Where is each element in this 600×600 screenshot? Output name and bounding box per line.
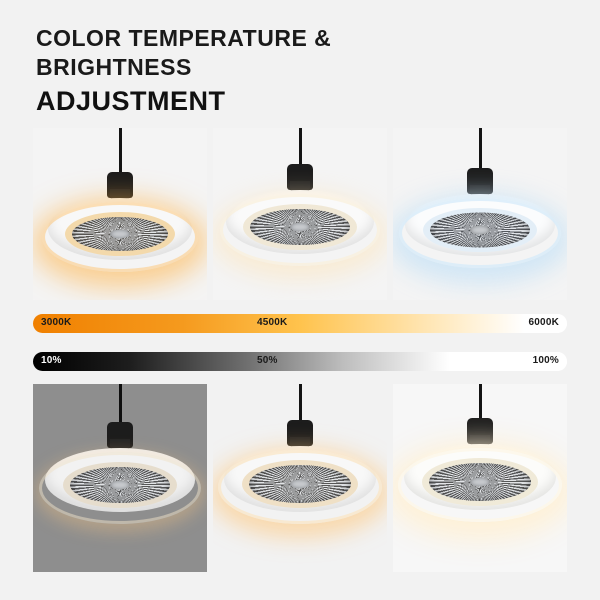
fan-hub [110,230,130,239]
lamp-diffuser [65,212,175,256]
lamp-socket [287,164,313,190]
temp-label-mid: 4500K [257,317,287,328]
fan-hub [470,478,490,487]
brightness-label-start: 10% [41,355,62,366]
lamp-socket [287,420,313,446]
lamp-photo-brightness-10 [33,384,207,572]
lamp-socket [467,168,493,194]
lamp-photo-3000k [33,128,207,300]
lamp-cord [479,128,482,172]
color-temperature-labels: 3000K 4500K 6000K [33,314,567,333]
temp-label-start: 3000K [41,317,71,328]
brightness-label-mid: 50% [257,355,278,366]
lamp-photo-6000k [393,128,567,300]
lamp-cord [119,384,122,426]
lamp-diffuser [242,460,358,508]
lamp-diffuser [243,204,357,250]
lamp-photo-4500k [213,128,387,300]
lamp-cord [119,128,122,176]
temp-label-end: 6000K [529,317,559,328]
lamp-cord [299,128,302,168]
brightness-labels: 10% 50% 100% [33,352,567,371]
fan-hub [290,223,310,232]
fan-hub [110,481,130,490]
brightness-label-end: 100% [533,355,559,366]
lamp-diffuser [422,458,538,506]
lamp-socket [467,418,493,444]
fan-hub [470,226,490,235]
title-line-1: COLOR TEMPERATURE & [36,24,556,53]
lamp-diffuser [63,462,177,508]
title-line-2: BRIGHTNESS [36,53,556,82]
gallery-top-row [33,128,567,300]
product-infographic: COLOR TEMPERATURE & BRIGHTNESS ADJUSTMEN… [0,0,600,600]
title-line-3: ADJUSTMENT [36,84,556,118]
brightness-slider[interactable]: 10% 50% 100% [33,352,567,371]
lamp-socket [107,172,133,198]
page-title: COLOR TEMPERATURE & BRIGHTNESS ADJUSTMEN… [36,24,556,118]
color-temperature-slider[interactable]: 3000K 4500K 6000K [33,314,567,333]
lamp-photo-brightness-50 [213,384,387,572]
fan-hub [290,480,310,489]
lamp-socket [107,422,133,448]
lamp-cord [299,384,302,424]
gallery-bottom-row [33,384,567,572]
lamp-diffuser [423,208,537,252]
lamp-photo-brightness-100 [393,384,567,572]
lamp-cord [479,384,482,422]
